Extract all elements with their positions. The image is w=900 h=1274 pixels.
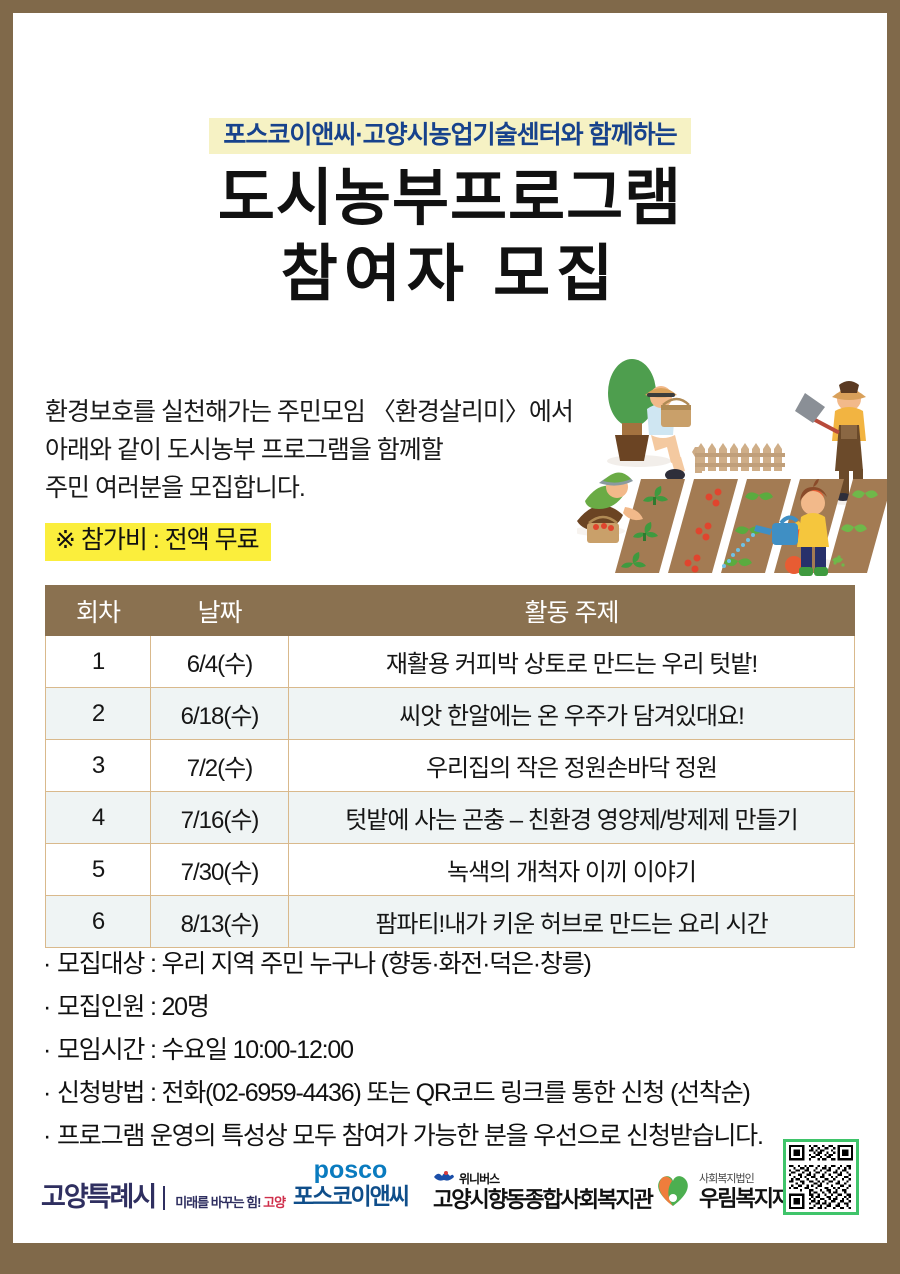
cell-date: 6/18(수)	[151, 688, 289, 740]
logo-posco-enc: posco 포스코이앤씨	[293, 1158, 408, 1211]
detail-text: 모임시간 : 수요일 10:00-12:00	[57, 1036, 353, 1064]
cell-topic: 팜파티!내가 키운 허브로 만드는 요리 시간	[289, 896, 855, 948]
cell-date: 8/13(수)	[151, 896, 289, 948]
bullet-dot: ·	[43, 986, 57, 1029]
column-header-topic: 활동 주제	[289, 586, 855, 636]
detail-text: 신청방법 : 전화(02-6959-4436) 또는 QR코드 링크를 통한 신…	[57, 1079, 750, 1107]
table-row: 5 7/30(수) 녹색의 개척자 이끼 이야기	[46, 844, 855, 896]
poster-title: 도시농부프로그램 참여자 모집	[13, 168, 887, 306]
title-line-2: 참여자 모집	[13, 244, 887, 306]
goyang-slogan: 미래를 바꾸는 힘! 고양	[175, 1196, 285, 1211]
posco-name-kr: 포스코이앤씨	[293, 1183, 408, 1211]
welfare-mark-row: 위니버스	[433, 1169, 652, 1187]
fee-note: ※ 참가비 : 전액 무료	[45, 523, 271, 561]
welfare-name: 고양시향동종합사회복지관	[433, 1189, 652, 1211]
cell-topic: 우리집의 작은 정원손바닥 정원	[289, 740, 855, 792]
table-body: 1 6/4(수) 재활용 커피박 상토로 만드는 우리 텃밭! 2 6/18(수…	[46, 636, 855, 948]
list-item: ·모집인원 : 20명	[43, 986, 873, 1029]
fee-note-row: ※ 참가비 : 전액 무료	[45, 523, 271, 561]
cell-topic: 씨앗 한알에는 온 우주가 담겨있대요!	[289, 688, 855, 740]
logo-welfare-center: 위니버스 고양시향동종합사회복지관	[433, 1169, 652, 1211]
cell-topic: 재활용 커피박 상토로 만드는 우리 텃밭!	[289, 636, 855, 688]
goyang-slogan-accent: 고양	[263, 1195, 285, 1210]
detail-text: 모집대상 : 우리 지역 주민 누구나 (향동·화전·덕은·창릉)	[57, 950, 591, 978]
qr-code[interactable]	[783, 1139, 859, 1215]
cell-date: 7/2(수)	[151, 740, 289, 792]
table-row: 2 6/18(수) 씨앗 한알에는 온 우주가 담겨있대요!	[46, 688, 855, 740]
table-row: 1 6/4(수) 재활용 커피박 상토로 만드는 우리 텃밭!	[46, 636, 855, 688]
footer-logos: 고양특례시 미래를 바꾸는 힘! 고양 posco 포스코이앤씨 위니버스 고양…	[13, 1133, 887, 1225]
title-line-1: 도시농부프로그램	[13, 168, 887, 230]
bullet-dot: ·	[43, 1029, 57, 1072]
bird-icon	[433, 1169, 455, 1187]
goyang-name: 고양특례시	[41, 1184, 155, 1211]
table-row: 4 7/16(수) 텃밭에 사는 곤충 – 친환경 영양제/방제제 만들기	[46, 792, 855, 844]
urim-small: 사회복지법인	[699, 1173, 754, 1185]
cell-no: 3	[46, 740, 151, 792]
cell-date: 7/30(수)	[151, 844, 289, 896]
poster-subtitle: 포스코이앤씨·고양시농업기술센터와 함께하는	[209, 118, 690, 154]
welfare-brand: 위니버스	[459, 1170, 499, 1187]
poster-canvas: 포스코이앤씨·고양시농업기술센터와 함께하는 도시농부프로그램 참여자 모집	[13, 13, 887, 1243]
intro-line-3: 주민 여러분을 모집합니다.	[45, 469, 665, 507]
bullet-dot: ·	[43, 1072, 57, 1115]
heart-icon	[653, 1172, 693, 1208]
cell-no: 6	[46, 896, 151, 948]
subtitle-row: 포스코이앤씨·고양시농업기술센터와 함께하는	[13, 118, 887, 154]
schedule-table: 회차 날짜 활동 주제 1 6/4(수) 재활용 커피박 상토로 만드는 우리 …	[45, 585, 855, 948]
cell-no: 5	[46, 844, 151, 896]
intro-line-1: 환경보호를 실천해가는 주민모임 〈환경살리미〉에서	[45, 393, 665, 431]
bullet-dot: ·	[43, 943, 57, 986]
cell-topic: 텃밭에 사는 곤충 – 친환경 영양제/방제제 만들기	[289, 792, 855, 844]
list-item: ·신청방법 : 전화(02-6959-4436) 또는 QR코드 링크를 통한 …	[43, 1072, 873, 1115]
detail-text: 모집인원 : 20명	[57, 993, 209, 1021]
table-header-row: 회차 날짜 활동 주제	[46, 586, 855, 636]
cell-topic: 녹색의 개척자 이끼 이야기	[289, 844, 855, 896]
column-header-no: 회차	[46, 586, 151, 636]
cell-no: 4	[46, 792, 151, 844]
goyang-divider	[163, 1186, 165, 1210]
posco-wordmark: posco	[293, 1158, 408, 1183]
list-item: ·모임시간 : 수요일 10:00-12:00	[43, 1029, 873, 1072]
intro-paragraph: 환경보호를 실천해가는 주민모임 〈환경살리미〉에서 아래와 같이 도시농부 프…	[45, 393, 665, 507]
list-item: ·모집대상 : 우리 지역 주민 누구나 (향동·화전·덕은·창릉)	[43, 943, 873, 986]
table-row: 6 8/13(수) 팜파티!내가 키운 허브로 만드는 요리 시간	[46, 896, 855, 948]
table-row: 3 7/2(수) 우리집의 작은 정원손바닥 정원	[46, 740, 855, 792]
details-list: ·모집대상 : 우리 지역 주민 누구나 (향동·화전·덕은·창릉) ·모집인원…	[43, 943, 873, 1158]
cell-no: 1	[46, 636, 151, 688]
intro-line-2: 아래와 같이 도시농부 프로그램을 함께할	[45, 431, 665, 469]
cell-date: 7/16(수)	[151, 792, 289, 844]
column-header-date: 날짜	[151, 586, 289, 636]
cell-date: 6/4(수)	[151, 636, 289, 688]
cell-no: 2	[46, 688, 151, 740]
logo-goyang-city: 고양특례시 미래를 바꾸는 힘! 고양	[41, 1184, 285, 1211]
